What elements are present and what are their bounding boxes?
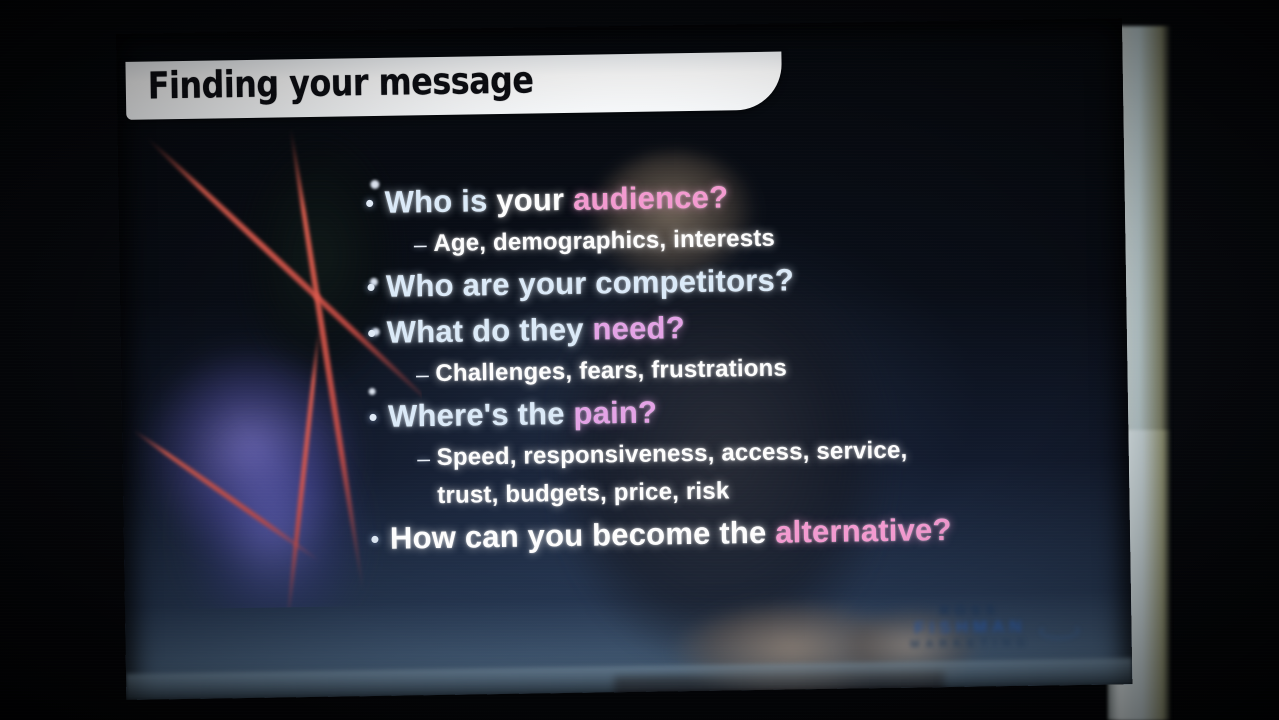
dash-marker-icon: – <box>407 225 434 263</box>
bullet-text: What do they need? <box>386 305 685 356</box>
bullet-text-segment: Who is <box>384 183 496 220</box>
bullet-text-segment: Where's the <box>388 396 574 434</box>
bullet-marker-icon: • <box>356 264 387 310</box>
video-frame: Finding your message •Who is your audien… <box>0 0 1279 720</box>
slide-title: Finding your message <box>147 58 533 107</box>
bullet-text-segment: pain? <box>573 395 657 431</box>
bullet-marker-icon: • <box>354 180 385 226</box>
bullet-text: Who is your audience? <box>384 174 728 225</box>
bullet-text-segment: need? <box>592 310 685 346</box>
bullet-text-segment: Speed, responsiveness, access, service, <box>436 437 907 471</box>
bullet-text-segment: What do they <box>386 312 592 350</box>
bullet-text-segment: your <box>496 182 573 218</box>
bullet-text: Speed, responsiveness, access, service, <box>436 432 907 477</box>
bullet-text: Age, demographics, interests <box>433 220 775 263</box>
bullet-text: Challenges, fears, frustrations <box>435 350 787 394</box>
bullet-text-segment: How can you become the <box>390 515 776 556</box>
bullet-text-segment: trust, budgets, price, risk <box>437 477 730 509</box>
slide-title-banner: Finding your message <box>125 52 782 120</box>
bullet-text: How can you become the alternative? <box>390 507 952 562</box>
bullet-marker-icon: • <box>360 516 391 562</box>
bullet-text: trust, budgets, price, risk <box>437 472 730 515</box>
bullet-marker-icon: • <box>358 394 389 440</box>
dash-marker-icon: – <box>409 355 436 393</box>
dash-marker-icon: – <box>410 439 437 477</box>
slide-bullet-list: •Who is your audience?–Age, demographics… <box>354 168 1120 562</box>
bullet-text: Where's the pain? <box>388 390 658 440</box>
bullet-text-segment: audience? <box>573 179 729 216</box>
bullet-text-segment: Age, demographics, interests <box>433 225 775 257</box>
bullet-marker-icon: • <box>356 310 387 356</box>
bullet-text-segment: Challenges, fears, frustrations <box>435 355 787 388</box>
bullet-text-segment: Who are your competitors? <box>386 262 795 303</box>
brand-logo: ROSS FISHMAN MARKETING <box>865 601 1076 651</box>
projection-screen: Finding your message •Who is your audien… <box>116 18 1132 700</box>
bullet-text: Who are your competitors? <box>386 257 795 309</box>
bullet-text-segment: alternative? <box>775 512 952 550</box>
